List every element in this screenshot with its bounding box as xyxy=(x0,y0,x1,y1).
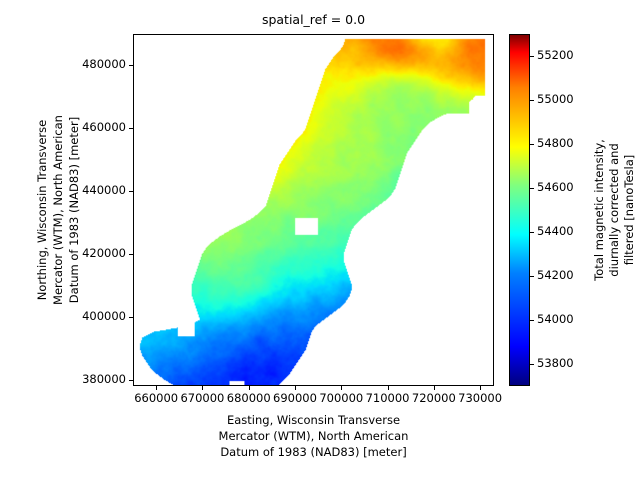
colorbar-label-line-0: Total magnetic intensity, xyxy=(592,34,607,386)
x-tick-mark xyxy=(249,386,250,390)
x-tick-mark xyxy=(341,386,342,390)
colorbar-tick-label: 54200 xyxy=(537,268,574,282)
colorbar-tick-label: 54000 xyxy=(537,312,574,326)
x-tick-mark xyxy=(295,386,296,390)
colorbar-tick-mark xyxy=(530,320,534,321)
x-axis-label-line-0: Easting, Wisconsin Transverse xyxy=(133,412,494,428)
x-tick-mark xyxy=(156,386,157,390)
colorbar-tick-label: 54600 xyxy=(537,180,574,194)
x-axis-label-line-1: Mercator (WTM), North American xyxy=(133,428,494,444)
figure-canvas: spatial_ref = 0.0 6600006700006800006900… xyxy=(0,0,640,480)
colorbar-tick-label: 55200 xyxy=(537,48,574,62)
colorbar-tick-mark xyxy=(530,144,534,145)
x-tick-mark xyxy=(388,386,389,390)
colorbar-tick-mark xyxy=(530,276,534,277)
plot-title: spatial_ref = 0.0 xyxy=(133,12,494,27)
colorbar-gradient[interactable] xyxy=(509,34,530,386)
colorbar-tick-mark xyxy=(530,232,534,233)
x-tick-mark xyxy=(434,386,435,390)
x-tick-label: 730000 xyxy=(450,391,510,405)
colorbar-label: Total magnetic intensity,diurnally corre… xyxy=(592,34,637,386)
colorbar-tick-mark xyxy=(530,188,534,189)
x-axis-label-line-2: Datum of 1983 (NAD83) [meter] xyxy=(133,444,494,460)
colorbar-tick-label: 53800 xyxy=(537,356,574,370)
x-axis-label: Easting, Wisconsin TransverseMercator (W… xyxy=(133,412,494,460)
x-tick-mark xyxy=(202,386,203,390)
colorbar-tick-mark xyxy=(530,100,534,101)
y-axis-label-line-0: Northing, Wisconsin Transverse xyxy=(34,34,50,386)
y-tick-mark xyxy=(129,380,133,381)
y-tick-mark xyxy=(129,254,133,255)
y-tick-mark xyxy=(129,65,133,66)
y-tick-mark xyxy=(129,317,133,318)
colorbar-tick-mark xyxy=(530,364,534,365)
magnetic-intensity-heatmap[interactable] xyxy=(134,35,493,385)
colorbar-tick-label: 54400 xyxy=(537,224,574,238)
y-tick-mark xyxy=(129,128,133,129)
colorbar-label-line-1: diurnally corrected and xyxy=(607,34,622,386)
y-axis-label-line-1: Mercator (WTM), North American xyxy=(50,34,66,386)
y-axis-label: Northing, Wisconsin TransverseMercator (… xyxy=(34,34,82,386)
colorbar-tick-label: 54800 xyxy=(537,136,574,150)
y-tick-mark xyxy=(129,191,133,192)
x-tick-mark xyxy=(480,386,481,390)
colorbar-label-line-2: filtered [nanoTesla] xyxy=(622,34,637,386)
colorbar-tick-mark xyxy=(530,56,534,57)
y-axis-label-line-2: Datum of 1983 (NAD83) [meter] xyxy=(66,34,82,386)
colorbar-tick-label: 55000 xyxy=(537,92,574,106)
map-axes[interactable] xyxy=(133,34,494,386)
